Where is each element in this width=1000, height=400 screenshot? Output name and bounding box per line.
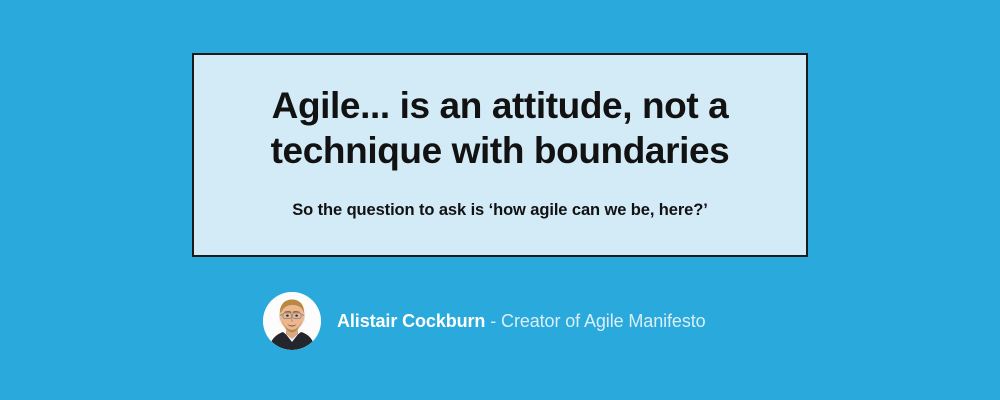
author-role: - Creator of Agile Manifesto bbox=[485, 311, 705, 331]
attribution-text: Alistair Cockburn - Creator of Agile Man… bbox=[337, 310, 706, 332]
avatar-photo-icon bbox=[263, 292, 321, 350]
quote-card: Agile... is an attitude, not a technique… bbox=[192, 53, 808, 257]
attribution: Alistair Cockburn - Creator of Agile Man… bbox=[263, 292, 706, 350]
quote-subline: So the question to ask is ‘how agile can… bbox=[194, 173, 806, 221]
quote-slide: Agile... is an attitude, not a technique… bbox=[0, 0, 1000, 400]
quote-headline: Agile... is an attitude, not a technique… bbox=[194, 55, 806, 173]
author-name: Alistair Cockburn bbox=[337, 311, 485, 331]
